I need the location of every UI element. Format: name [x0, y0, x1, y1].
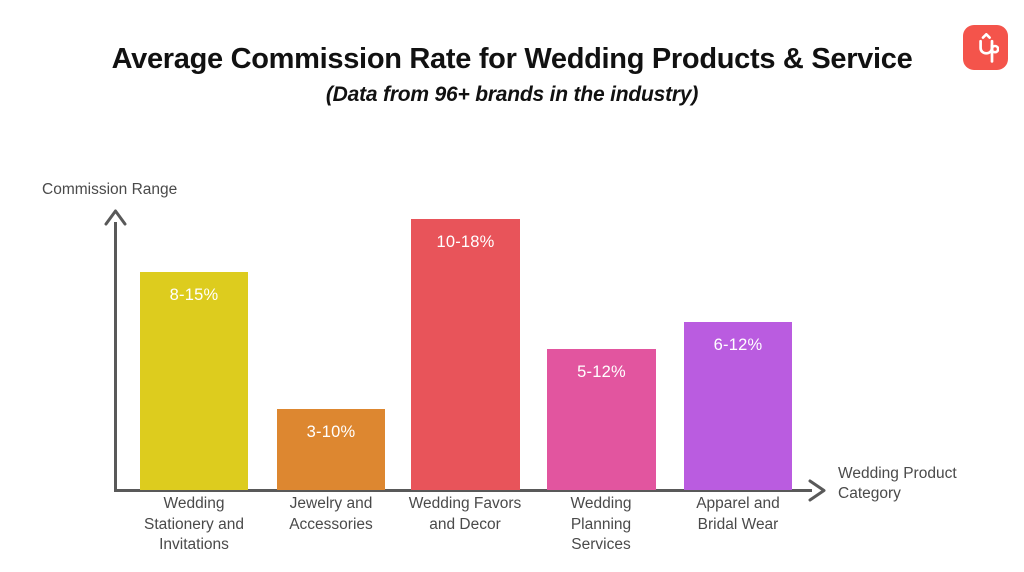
category-label-line: and Decor	[391, 515, 539, 536]
chart-page: Average Commission Rate for Wedding Prod…	[0, 0, 1024, 572]
category-label-line: Apparel and	[666, 494, 810, 515]
bar-wedding-stationery[interactable]: 8-15%	[140, 272, 248, 490]
category-label-line: Planning	[529, 515, 673, 536]
category-label-line: Wedding Favors	[391, 494, 539, 515]
category-label-line: Bridal Wear	[666, 515, 810, 536]
bar-value-label: 10-18%	[411, 233, 520, 252]
category-label-line: Services	[529, 535, 673, 556]
bar-value-label: 3-10%	[277, 423, 385, 442]
bar-apparel-bridal[interactable]: 6-12%	[684, 322, 792, 490]
category-label-wedding-stationery: Wedding Stationery and Invitations	[122, 494, 266, 556]
category-label-line: Jewelry and	[259, 494, 403, 515]
bar-jewelry-accessories[interactable]: 3-10%	[277, 409, 385, 490]
category-label-line: Wedding	[529, 494, 673, 515]
bar-value-label: 6-12%	[684, 336, 792, 355]
category-label-apparel-bridal: Apparel and Bridal Wear	[666, 494, 810, 535]
category-label-jewelry-accessories: Jewelry and Accessories	[259, 494, 403, 535]
bar-wedding-planning[interactable]: 5-12%	[547, 349, 656, 490]
category-label-wedding-favors: Wedding Favors and Decor	[391, 494, 539, 535]
category-label-line: Accessories	[259, 515, 403, 536]
category-label-line: Stationery and	[122, 515, 266, 536]
category-label-line: Invitations	[122, 535, 266, 556]
category-label-line: Wedding	[122, 494, 266, 515]
bar-value-label: 8-15%	[140, 286, 248, 305]
bars-layer: 8-15% 3-10% 10-18% 5-12% 6-12%	[0, 0, 1024, 572]
bar-value-label: 5-12%	[547, 363, 656, 382]
category-label-wedding-planning: Wedding Planning Services	[529, 494, 673, 556]
bar-wedding-favors[interactable]: 10-18%	[411, 219, 520, 490]
